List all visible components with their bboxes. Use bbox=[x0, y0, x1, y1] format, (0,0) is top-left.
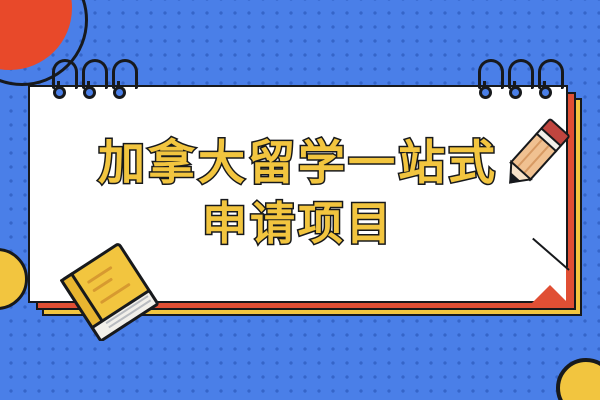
yellow-circle-left-decoration bbox=[0, 248, 28, 310]
yellow-circle-bottom-right-decoration bbox=[556, 358, 600, 400]
pencil-icon bbox=[496, 114, 574, 196]
headline-line-1: 加拿大留学一站式 bbox=[98, 139, 498, 190]
headline-line-2: 申请项目 bbox=[202, 200, 394, 249]
poster-canvas: 加拿大留学一站式 申请项目 bbox=[0, 0, 600, 400]
book-icon bbox=[60, 243, 164, 341]
